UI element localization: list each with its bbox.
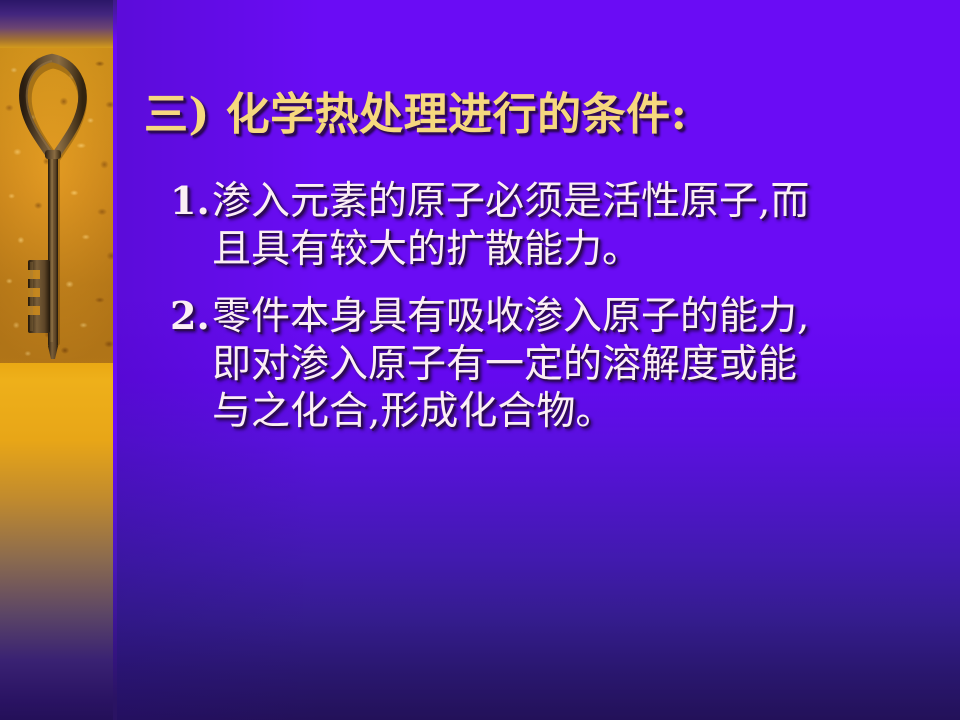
sidebar-edge-seam: [113, 0, 117, 720]
slide-title: 三) 化学热处理进行的条件:: [144, 78, 944, 142]
antique-key-icon: [0, 48, 116, 363]
presentation-slide: 三) 化学热处理进行的条件: 1. 渗入元素的原子必须是活性原子,而 且具有较大…: [0, 0, 960, 720]
list-item-line: 即对渗入原子有一定的溶解度或能: [212, 341, 960, 389]
list-item: 2. 零件本身具有吸收渗入原子的能力, 即对渗入原子有一定的溶解度或能 与之化合…: [170, 293, 960, 436]
key-collar: [45, 150, 61, 159]
list-item-marker: 1.: [170, 178, 212, 224]
list-item-line: 零件本身具有吸收渗入原子的能力,: [212, 293, 960, 341]
list-item-line: 与之化合,形成化合物。: [212, 388, 960, 436]
list-item-text: 渗入元素的原子必须是活性原子,而 且具有较大的扩散能力。: [212, 178, 960, 273]
sidebar-decoration-band: [0, 0, 116, 720]
key-photo: [0, 48, 116, 363]
key-bit: [28, 260, 50, 333]
bullet-list: 1. 渗入元素的原子必须是活性原子,而 且具有较大的扩散能力。 2. 零件本身具…: [170, 178, 960, 456]
list-item: 1. 渗入元素的原子必须是活性原子,而 且具有较大的扩散能力。: [170, 178, 960, 273]
list-item-text: 零件本身具有吸收渗入原子的能力, 即对渗入原子有一定的溶解度或能 与之化合,形成…: [212, 293, 960, 436]
slide-content: 三) 化学热处理进行的条件: 1. 渗入元素的原子必须是活性原子,而 且具有较大…: [118, 0, 960, 720]
list-item-line: 且具有较大的扩散能力。: [212, 226, 960, 274]
key-tip: [48, 346, 58, 359]
list-item-marker: 2.: [170, 293, 212, 339]
list-item-line: 渗入元素的原子必须是活性原子,而: [212, 178, 960, 226]
